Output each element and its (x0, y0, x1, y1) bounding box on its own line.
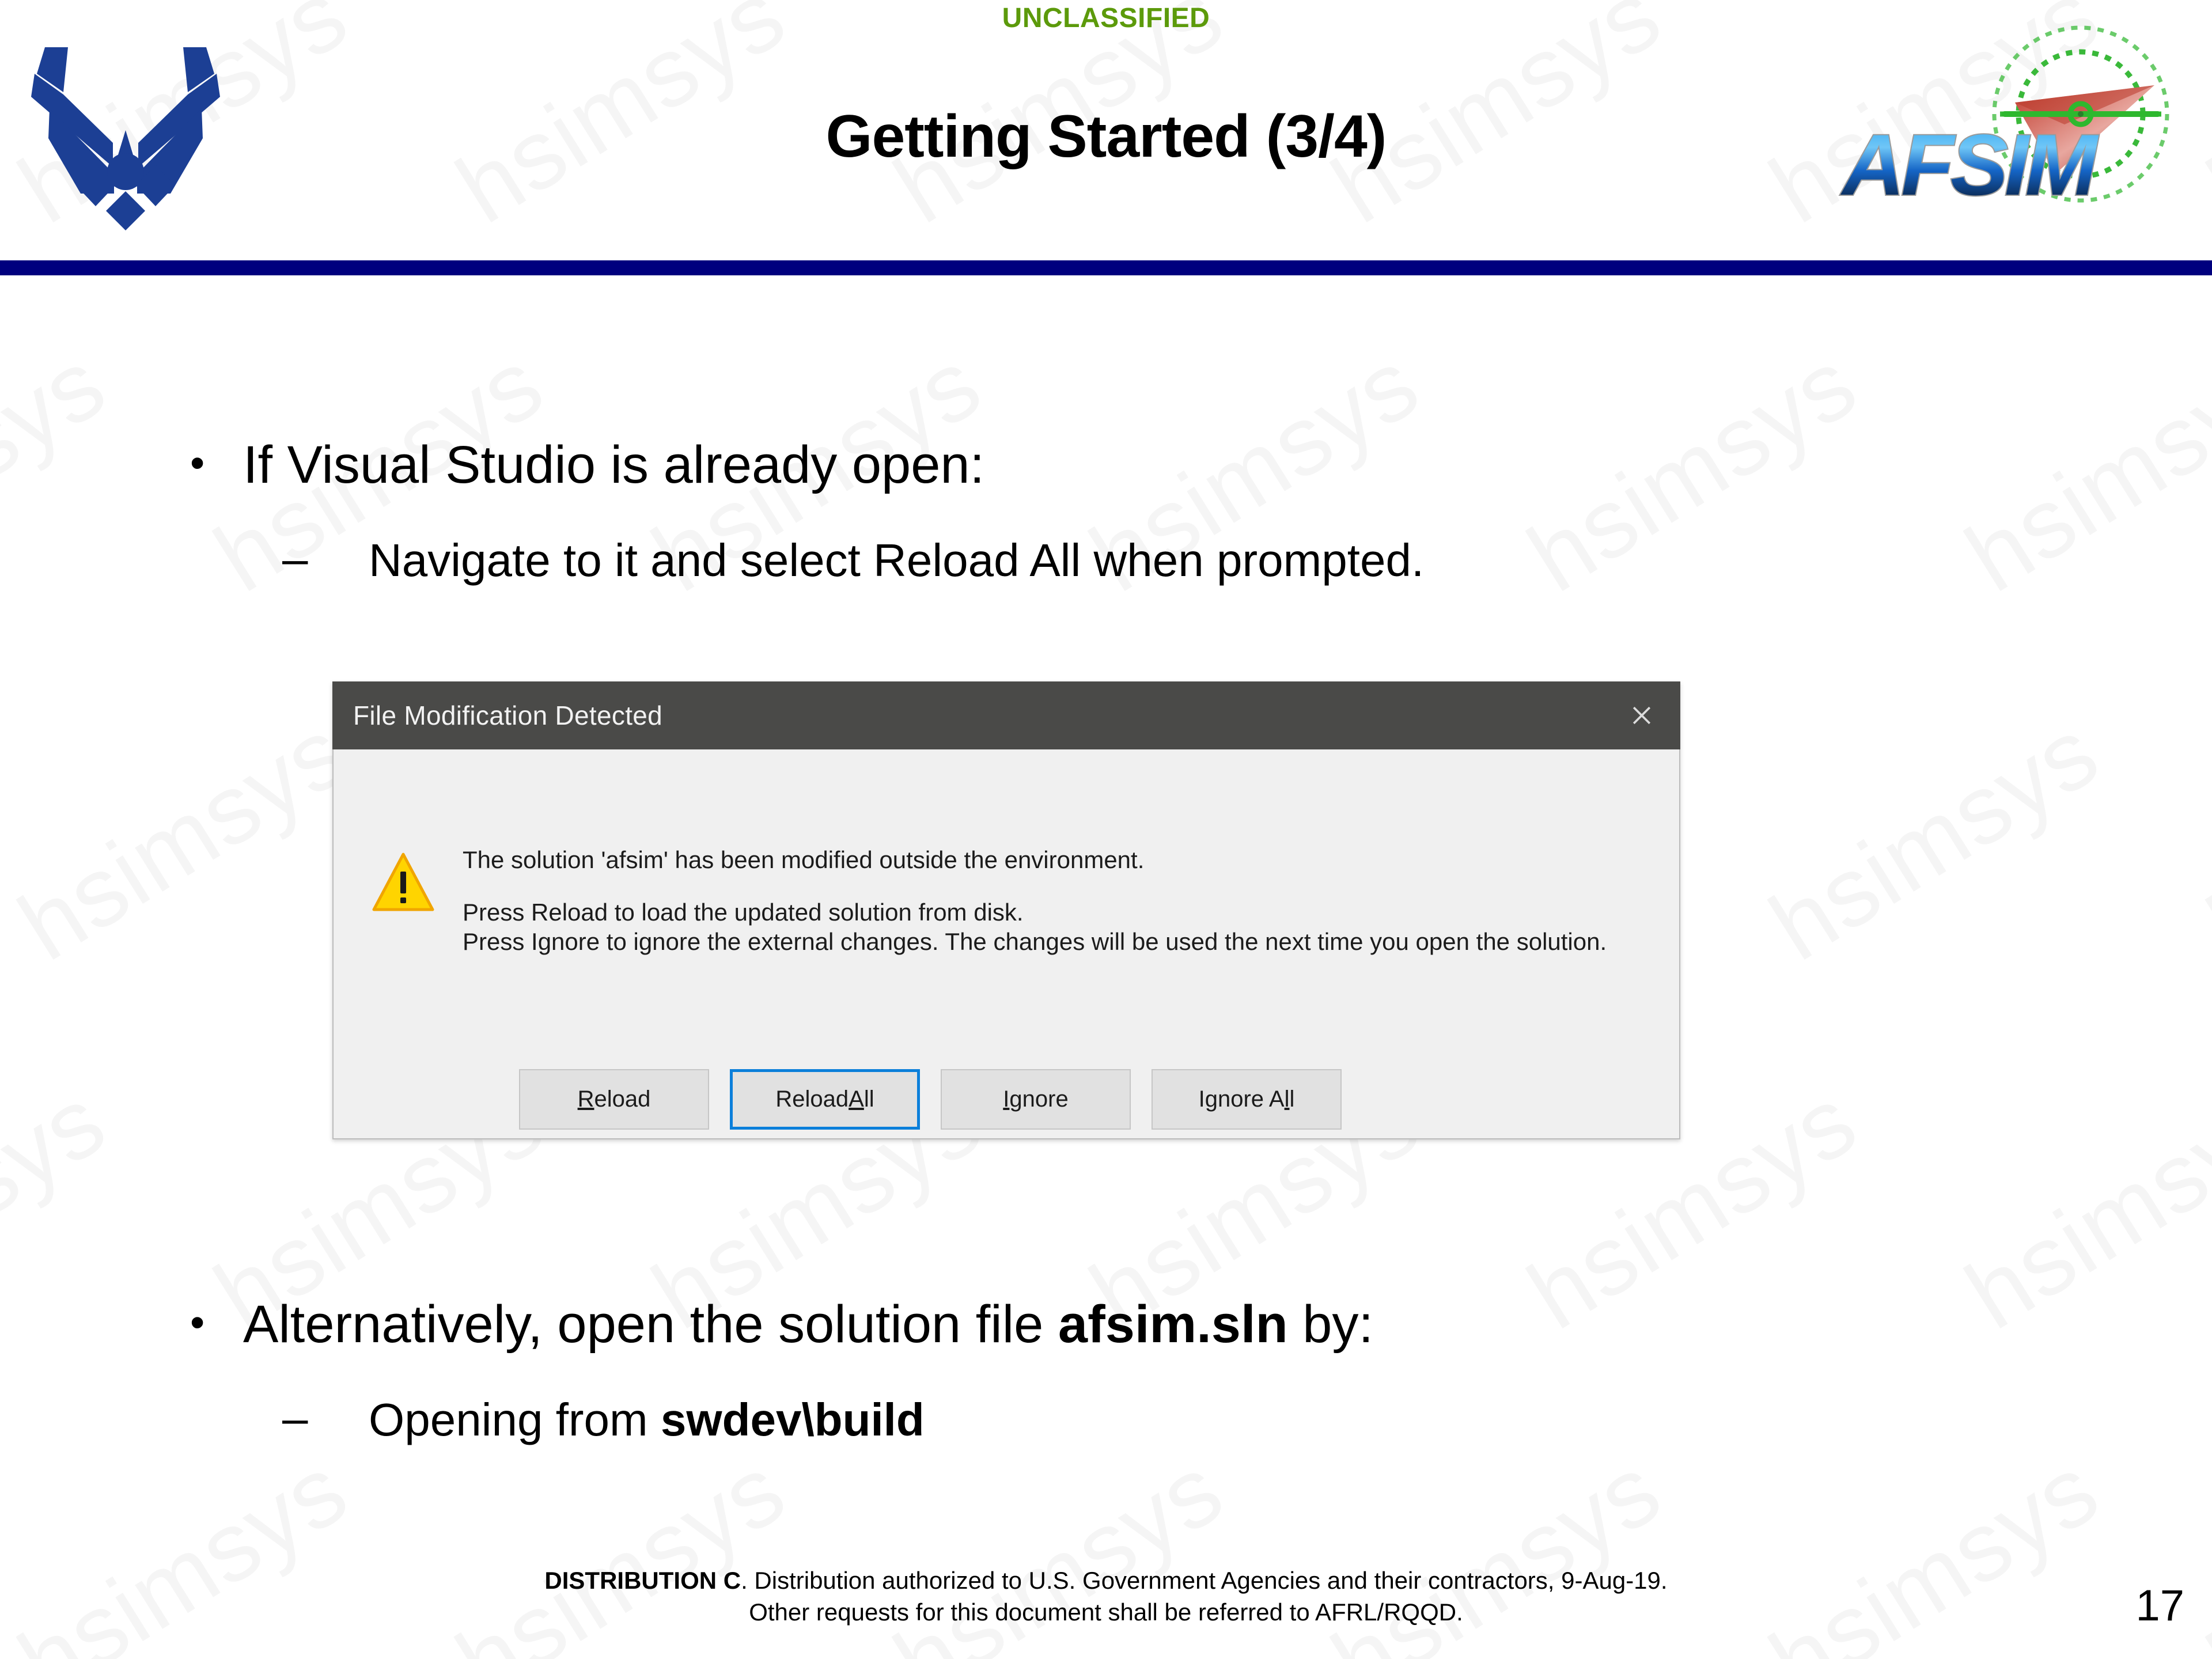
bullet-text-4-seg-1: swdev\build (661, 1394, 925, 1445)
ignore-all-button[interactable]: Ignore All (1152, 1069, 1342, 1130)
bullet-marker-2: – (282, 536, 369, 582)
ignore-button[interactable]: Ignore (941, 1069, 1131, 1130)
close-icon[interactable] (1616, 690, 1668, 741)
dialog-message-text: The solution 'afsim' has been modified o… (463, 845, 1638, 957)
bullet-text-4-seg-0: Opening from (369, 1394, 661, 1445)
bullet-marker-4: – (282, 1395, 369, 1441)
bullet-text-3-seg-2: by: (1288, 1295, 1373, 1354)
bullet-item-2: – Navigate to it and select Reload All w… (282, 536, 2068, 585)
dialog-titlebar: File Modification Detected (332, 681, 1680, 749)
distribution-label: DISTRIBUTION C (544, 1567, 741, 1594)
bullet-item-4: – Opening from swdev\build (282, 1395, 2068, 1445)
dialog-message-gap (463, 874, 1638, 897)
dialog-title: File Modification Detected (332, 700, 662, 731)
svg-text:AFSIM: AFSIM (1840, 116, 2099, 213)
bullet-item-3: • Alternatively, open the solution file … (190, 1296, 2033, 1353)
bullet-marker-3: • (190, 1296, 243, 1350)
dialog-button-row: Reload Reload All Ignore Ignore All (519, 1069, 1342, 1130)
distribution-statement: DISTRIBUTION C. Distribution authorized … (0, 1565, 2212, 1628)
afsim-logo: AFSIM (1832, 12, 2206, 242)
dialog-message-line-3: Press Ignore to ignore the external chan… (463, 927, 1638, 956)
bullet-marker-1: • (190, 437, 243, 491)
dialog-message-line-2: Press Reload to load the updated solutio… (463, 897, 1638, 927)
bullet-text-2-seg-0: Navigate to it and select Reload All whe… (369, 535, 1424, 586)
air-force-logo (10, 23, 241, 236)
bullet-text-2: Navigate to it and select Reload All whe… (369, 536, 1424, 585)
bullet-text-1: If Visual Studio is already open: (243, 437, 984, 494)
distribution-line-2: Other requests for this document shall b… (0, 1596, 2212, 1628)
distribution-text: . Distribution authorized to U.S. Govern… (741, 1567, 1668, 1594)
header-divider-rule (0, 260, 2212, 275)
warning-triangle-icon (372, 852, 435, 912)
bullet-text-4: Opening from swdev\build (369, 1395, 925, 1445)
bullet-item-1: • If Visual Studio is already open: (190, 437, 2033, 494)
bullet-text-3-seg-0: Alternatively, open the solution file (243, 1295, 1058, 1354)
dialog-body: The solution 'afsim' has been modified o… (334, 749, 1679, 1137)
reload-all-button[interactable]: Reload All (730, 1069, 920, 1130)
bullet-text-1-seg-0: If Visual Studio is already open: (243, 435, 984, 494)
file-modification-dialog: File Modification Detected The solution … (332, 681, 1680, 1139)
bullet-text-3-seg-1: afsim.sln (1058, 1295, 1288, 1354)
reload-button[interactable]: Reload (519, 1069, 709, 1130)
page-number: 17 (2135, 1581, 2184, 1631)
dialog-message-line-1: The solution 'afsim' has been modified o… (463, 845, 1638, 874)
distribution-line-1: DISTRIBUTION C. Distribution authorized … (0, 1565, 2212, 1596)
bullet-text-3: Alternatively, open the solution file af… (243, 1296, 1373, 1353)
